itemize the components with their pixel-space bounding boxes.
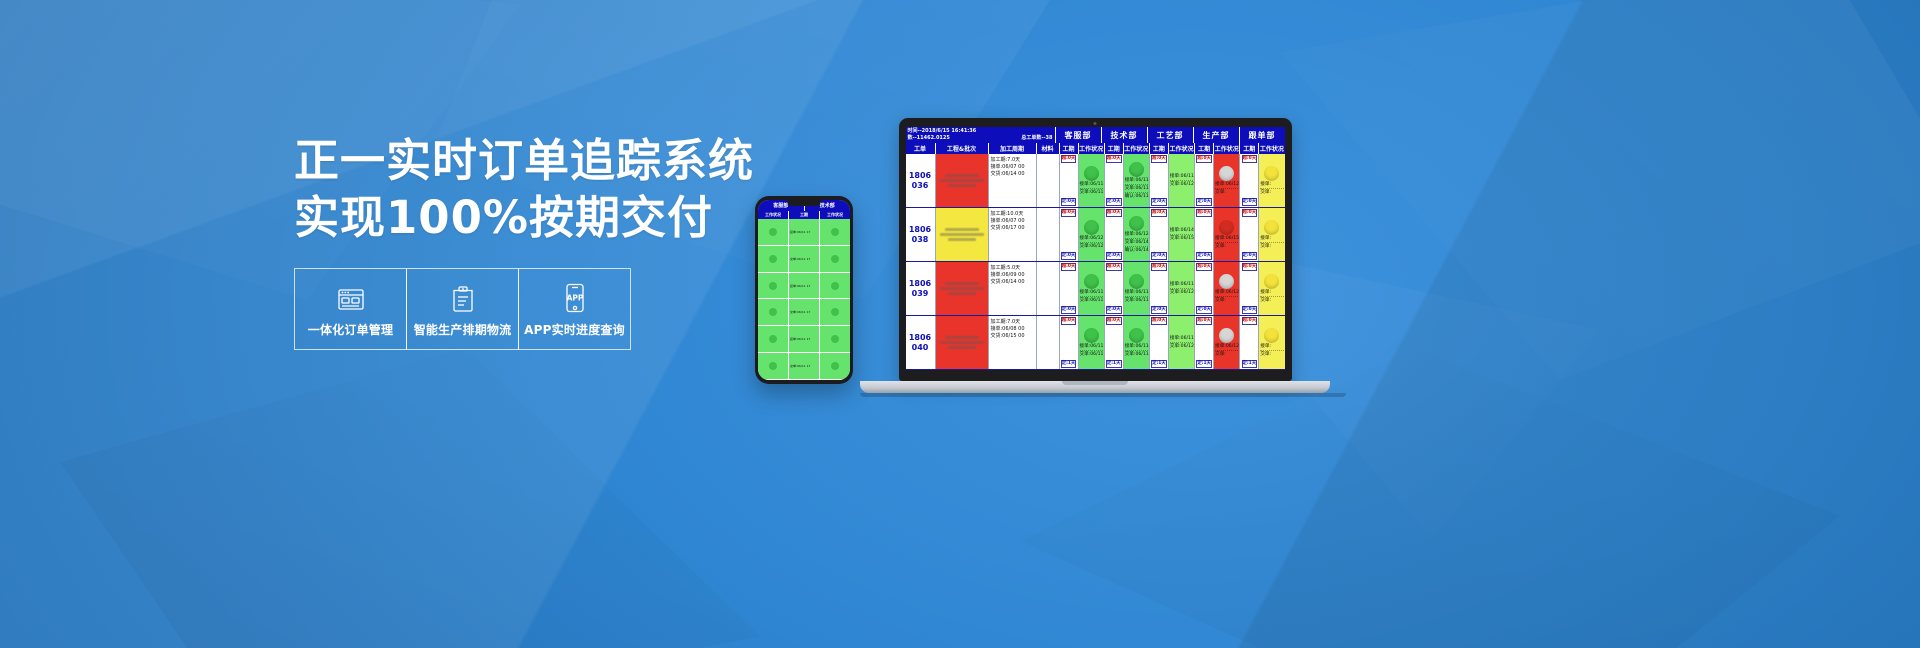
background-facet (60, 348, 760, 648)
planned-days-badge: 定:0天 (1151, 198, 1167, 206)
phone-status-cell[interactable] (758, 219, 788, 246)
cycle-line-2: 接单:06/07 00 (991, 218, 1025, 225)
feature-item-order-management[interactable]: 一体化订单管理 (294, 268, 407, 350)
banner-copy: 正一实时订单追踪系统 实现100%按期交付 一 (294, 132, 714, 350)
phone-screen: 客服部 技术部 工作状况 工期 工作状况 接单:06/11 17 (758, 200, 850, 380)
phone-status-column[interactable] (758, 219, 789, 380)
col-duration-prod: 工期 (1195, 143, 1214, 154)
material-cell (1037, 316, 1060, 369)
duration-cell: 超:0天定:0天 (1150, 154, 1169, 207)
over-days-badge: 超:0天 (1106, 317, 1122, 325)
status-date-line-3: 确认:06/11 17 (1125, 194, 1148, 200)
phone-date-cell[interactable]: 接单:06/11 17 (789, 326, 819, 353)
phone-date-text: 接单:06/11 17 (789, 337, 819, 341)
redacted-text (940, 341, 984, 344)
col-work-order: 工单 (906, 143, 936, 154)
planned-days-badge: 定:0天 (1151, 252, 1167, 260)
duration-cell: 超:0天定:0天 (1060, 208, 1079, 261)
planned-days-badge: 定:0天 (1061, 198, 1077, 206)
work-order-cell: 1806036 (906, 154, 936, 207)
redacted-text (945, 174, 979, 177)
duration-cell: 超:0天定:0天 (1105, 154, 1124, 207)
col-material: 材料 (1037, 143, 1060, 154)
status-date-line-1: 接单:06/12 09 (1215, 290, 1238, 297)
planned-days-badge: 定:0天 (1242, 306, 1258, 314)
project-batch-cell (936, 208, 989, 261)
laptop-mockup: 时间--2018/6/15 16:41:36 数--11462.0125 总工单… (860, 118, 1330, 397)
work-order-prefix: 1806 (909, 171, 931, 181)
planned-days-badge: 定:0天 (1061, 252, 1077, 260)
redacted-text (940, 287, 984, 290)
material-cell (1037, 154, 1060, 207)
status-cell[interactable]: 接单:06/12 20交单:06/12 20 (1079, 208, 1105, 261)
over-days-badge: 超:0天 (1106, 209, 1122, 217)
status-date-line-2: 交单: (1215, 298, 1238, 304)
planned-days-badge: 定:0天 (1242, 198, 1258, 206)
dept-header-process: 工艺部 (1148, 127, 1194, 143)
duration-cell: 超:0天定:0天 (1150, 208, 1169, 261)
headline-line-2: 实现100%按期交付 (294, 189, 714, 246)
clipboard-schedule-icon (449, 281, 477, 313)
feature-list: 一体化订单管理 智能生产排期物流 (294, 268, 714, 350)
planned-days-badge: 定:1天 (1242, 360, 1258, 368)
status-date-line-2: 交单: (1215, 190, 1238, 196)
status-date-line-2: 交单:06/11 17 (1125, 298, 1148, 304)
cycle-cell: 加工期:7.0天接单:06/07 00交货:06/14 00 (989, 154, 1037, 207)
planned-days-badge: 定:0天 (1196, 252, 1212, 260)
dashboard-count: 数--11462.0125 (908, 135, 950, 142)
status-cell[interactable]: 接单:06/12 20交单:06/14 08确认:06/14 08 (1124, 208, 1150, 261)
dept-header-customer-service: 客服部 (1056, 127, 1102, 143)
work-order-suffix: 040 (912, 343, 929, 353)
status-cell[interactable]: 接单:06/15 16交单: (1214, 208, 1240, 261)
dashboard-time: 时间--2018/6/15 16:41:36 (908, 128, 1053, 135)
over-days-badge: 超:0天 (1061, 209, 1077, 217)
phone-status-cell[interactable] (758, 353, 788, 380)
phone-subheader-cell: 工期 (789, 211, 820, 219)
phone-status-cell[interactable] (758, 246, 788, 273)
dashboard-meta: 时间--2018/6/15 16:41:36 数--11462.0125 总工单… (906, 127, 1056, 143)
redacted-text (945, 336, 979, 339)
status-cell[interactable]: 接单:交单: (1259, 316, 1284, 369)
webcam-icon (1094, 122, 1097, 125)
status-dot (831, 282, 839, 290)
status-cell[interactable]: 接单:06/12 09交单: (1214, 316, 1240, 369)
cycle-line-1: 加工期:7.0天 (991, 157, 1021, 164)
status-date-line-2: 交单:06/12 09 (1170, 182, 1193, 188)
dashboard-subheader: 工单 工程&批次 加工周期 材料 工期 工作状况 工期 工作状况 工期 工作状况… (906, 143, 1285, 154)
status-indicator-dot (1129, 328, 1144, 343)
svg-text:APP: APP (566, 293, 583, 302)
phone-status-cell[interactable] (820, 246, 850, 273)
duration-cell: 超:0天定:0天 (1060, 262, 1079, 315)
planned-days-badge: 定:0天 (1106, 198, 1122, 206)
cycle-line-3: 交货:06/14 00 (991, 279, 1025, 286)
phone-date-text: 交单:06/11 17 (789, 257, 819, 261)
laptop-screen: 时间--2018/6/15 16:41:36 数--11462.0125 总工单… (906, 127, 1285, 370)
cycle-line-3: 交货:06/17 00 (991, 225, 1025, 232)
status-date-line-1: 接单:06/11 17 (1125, 178, 1148, 185)
laptop-shadow (860, 393, 1346, 397)
status-indicator-dot (1264, 220, 1279, 235)
work-order-cell: 1806039 (906, 262, 936, 315)
over-days-badge: 超:0天 (1151, 209, 1167, 217)
status-cell[interactable]: 接单:06/11 17交单:06/12 09 (1169, 154, 1195, 207)
status-indicator-dot (1129, 274, 1144, 289)
status-date-line-2: 交单:06/15 16 (1170, 236, 1193, 242)
planned-days-badge: 定:0天 (1242, 252, 1258, 260)
status-date-line-1: 接单:06/11 17 (1125, 290, 1148, 297)
status-indicator-dot (1219, 274, 1234, 289)
col-duration-merch: 工期 (1240, 143, 1259, 154)
cycle-cell: 加工期:7.0天接单:06/08 00交货:06/15 00 (989, 316, 1037, 369)
col-duration-tech: 工期 (1105, 143, 1124, 154)
redacted-text (948, 292, 976, 295)
smartphone-mockup: 客服部 技术部 工作状况 工期 工作状况 接单:06/11 17 (755, 196, 853, 384)
project-batch-cell (936, 154, 989, 207)
duration-cell: 超:0天定:0天 (1195, 208, 1214, 261)
duration-cell: 超:0天定:0天 (1150, 262, 1169, 315)
status-cell[interactable]: 接单:06/12 09交单: (1214, 154, 1240, 207)
status-dot (769, 308, 777, 316)
redacted-text (948, 238, 976, 241)
status-date-line-2: 交单: (1260, 352, 1283, 358)
phone-date-text: 交单:06/11 17 (789, 310, 819, 314)
col-status-merch: 工作状况 (1259, 143, 1284, 154)
status-cell[interactable]: 接单:06/11 17交单:06/11 17 (1124, 316, 1150, 369)
phone-subheader-cell: 工作状况 (758, 211, 789, 219)
table-row[interactable]: 1806036加工期:7.0天接单:06/07 00交货:06/14 00超:0… (906, 154, 1285, 208)
status-cell[interactable]: 接单:06/11 17交单:06/11 17 (1124, 262, 1150, 315)
over-days-badge: 超:0天 (1061, 317, 1077, 325)
col-status-tech: 工作状况 (1124, 143, 1150, 154)
over-days-badge: 超:0天 (1196, 317, 1212, 325)
status-indicator-dot (1219, 328, 1234, 343)
phone-date-column[interactable]: 接单:06/11 17 交单:06/11 17 接单:06/11 17 交单:0… (789, 219, 820, 380)
dashboard-rows: 1806036加工期:7.0天接单:06/07 00交货:06/14 00超:0… (906, 154, 1285, 370)
planned-days-badge: 定:0天 (1106, 252, 1122, 260)
col-status-prod: 工作状况 (1214, 143, 1240, 154)
phone-status-column-2[interactable] (820, 219, 850, 380)
over-days-badge: 超:0天 (1242, 263, 1258, 271)
status-indicator-dot (1084, 328, 1099, 343)
planned-days-badge: 定:0天 (1196, 306, 1212, 314)
dept-header-production: 生产部 (1194, 127, 1240, 143)
planned-days-badge: 定:0天 (1061, 306, 1077, 314)
status-date-line-1: 接单: (1260, 236, 1283, 243)
status-date-line-2: 交单:06/11 17 (1080, 352, 1103, 358)
cycle-cell: 加工期:10.0天接单:06/07 00交货:06/17 00 (989, 208, 1037, 261)
status-date-line-2: 交单: (1260, 244, 1283, 250)
table-row[interactable]: 1806039加工期:5.0天接单:06/09 00交货:06/14 00超:0… (906, 262, 1285, 316)
col-project-batch: 工程&批次 (936, 143, 989, 154)
work-order-prefix: 1806 (909, 279, 931, 289)
over-days-badge: 超:0天 (1196, 263, 1212, 271)
status-indicator-dot (1084, 166, 1099, 181)
redacted-text (940, 179, 984, 182)
planned-days-badge: 定:0天 (1196, 198, 1212, 206)
status-date-line-1: 接单:06/11 17 (1125, 344, 1148, 351)
status-dot (769, 255, 777, 263)
over-days-badge: 超:0天 (1151, 263, 1167, 271)
status-indicator-dot (1129, 162, 1144, 177)
redacted-text (948, 346, 976, 349)
phone-date-cell[interactable]: 交单:06/11 17 (789, 353, 819, 380)
material-cell (1037, 262, 1060, 315)
phone-status-cell[interactable] (820, 299, 850, 326)
redacted-text (945, 228, 979, 231)
cycle-cell: 加工期:5.0天接单:06/09 00交货:06/14 00 (989, 262, 1037, 315)
background-facet (1280, 0, 1920, 380)
status-indicator-dot (1264, 274, 1279, 289)
status-date-line-2: 交单:06/11 17 (1125, 352, 1148, 358)
headline-line-1: 正一实时订单追踪系统 (294, 134, 754, 187)
redacted-text (948, 184, 976, 187)
duration-cell: 超:0天定:1天 (1240, 316, 1259, 369)
status-cell[interactable]: 接单:06/11 17交单:06/12 09 (1169, 262, 1195, 315)
status-date-line-1: 接单: (1260, 344, 1283, 351)
status-date-line-1: 接单:06/11 17 (1170, 282, 1193, 289)
status-date-line-3: 确认:06/14 08 (1125, 248, 1148, 254)
work-order-prefix: 1806 (909, 333, 931, 343)
status-cell[interactable]: 接单:06/14 08交单:06/15 16 (1169, 208, 1195, 261)
table-row[interactable]: 1806040加工期:7.0天接单:06/08 00交货:06/15 00超:0… (906, 316, 1285, 370)
status-cell[interactable]: 接单:06/11 17交单:06/11 17确认:06/11 17 (1124, 154, 1150, 207)
over-days-badge: 超:0天 (1151, 155, 1167, 163)
phone-status-cell[interactable] (758, 273, 788, 300)
status-indicator-dot (1084, 220, 1099, 235)
status-indicator-dot (1219, 220, 1234, 235)
status-date-line-2: 交单:06/11 17 (1080, 190, 1103, 196)
status-dot (831, 228, 839, 236)
status-dot (769, 362, 777, 370)
status-date-line-1: 接单:06/11 17 (1170, 336, 1193, 343)
status-cell[interactable]: 接单:06/11 17交单:06/11 17 (1079, 262, 1105, 315)
laptop-base (860, 381, 1330, 393)
over-days-badge: 超:0天 (1151, 317, 1167, 325)
over-days-badge: 超:0天 (1242, 317, 1258, 325)
phone-table-body: 接单:06/11 17 交单:06/11 17 接单:06/11 17 交单:0… (758, 219, 850, 380)
status-cell[interactable]: 接单:06/11 17交单:06/12 09 (1169, 316, 1195, 369)
status-date-line-1: 接单:06/12 20 (1125, 232, 1148, 239)
over-days-badge: 超:0天 (1196, 209, 1212, 217)
status-cell[interactable]: 接单:06/11 17交单:06/11 17 (1079, 154, 1105, 207)
table-row[interactable]: 1806038加工期:10.0天接单:06/07 00交货:06/17 00超:… (906, 208, 1285, 262)
duration-cell: 超:0天定:0天 (1105, 262, 1124, 315)
status-indicator-dot (1084, 274, 1099, 289)
feature-label: 智能生产排期物流 (414, 321, 512, 338)
phone-date-text: 交单:06/11 17 (789, 364, 819, 368)
status-date-line-2: 交单: (1260, 190, 1283, 196)
phone-status-cell[interactable] (820, 219, 850, 246)
duration-cell: 超:0天定:0天 (1195, 262, 1214, 315)
phone-subheader: 工作状况 工期 工作状况 (758, 211, 850, 219)
phone-date-cell[interactable]: 接单:06/11 17 (789, 219, 819, 246)
planned-days-badge: 定:1天 (1196, 360, 1212, 368)
planned-days-badge: 定:1天 (1151, 360, 1167, 368)
work-order-suffix: 039 (912, 289, 929, 299)
planned-days-badge: 定:0天 (1106, 306, 1122, 314)
duration-cell: 超:0天定:0天 (1240, 208, 1259, 261)
planned-days-badge: 定:1天 (1106, 360, 1122, 368)
status-date-line-2: 交单:06/11 17 (1125, 186, 1148, 193)
status-date-line-2: 交单:06/12 09 (1170, 344, 1193, 350)
status-dot (831, 308, 839, 316)
status-date-line-1: 接单:06/12 09 (1215, 344, 1238, 351)
status-cell[interactable]: 接单:交单: (1259, 262, 1284, 315)
status-date-line-2: 交单:06/12 09 (1170, 290, 1193, 296)
phone-date-text: 接单:06/11 17 (789, 230, 819, 234)
planned-days-badge: 定:0天 (1151, 306, 1167, 314)
status-date-line-1: 接单:06/11 17 (1080, 290, 1103, 297)
order-management-icon (336, 281, 366, 313)
duration-cell: 超:0天定:1天 (1150, 316, 1169, 369)
phone-status-cell[interactable] (758, 326, 788, 353)
feature-item-production-schedule[interactable]: 智能生产排期物流 (406, 268, 519, 350)
duration-cell: 超:0天定:1天 (1195, 316, 1214, 369)
status-cell[interactable]: 接单:交单: (1259, 154, 1284, 207)
status-indicator-dot (1264, 166, 1279, 181)
duration-cell: 超:0天定:0天 (1060, 154, 1079, 207)
status-date-line-1: 接单:06/15 16 (1215, 236, 1238, 243)
status-date-line-1: 接单:06/14 08 (1170, 228, 1193, 235)
project-batch-cell (936, 316, 989, 369)
col-status-process: 工作状况 (1169, 143, 1195, 154)
planned-days-badge: 定:1天 (1061, 360, 1077, 368)
phone-notch (787, 200, 821, 206)
status-indicator-dot (1219, 166, 1234, 181)
col-duration-process: 工期 (1150, 143, 1169, 154)
status-date-line-2: 交单: (1215, 352, 1238, 358)
status-date-line-2: 交单:06/14 08 (1125, 240, 1148, 247)
cycle-line-2: 接单:06/08 00 (991, 326, 1025, 333)
status-date-line-1: 接单:06/11 17 (1080, 344, 1103, 351)
dashboard-total: 总工单数--38 (1021, 135, 1052, 142)
status-indicator-dot (1129, 216, 1144, 231)
duration-cell: 超:0天定:0天 (1240, 262, 1259, 315)
status-date-line-1: 接单: (1260, 290, 1283, 297)
over-days-badge: 超:0天 (1061, 263, 1077, 271)
laptop-lid: 时间--2018/6/15 16:41:36 数--11462.0125 总工单… (899, 118, 1292, 381)
phone-date-cell[interactable]: 接单:06/11 17 (789, 273, 819, 300)
project-batch-cell (936, 262, 989, 315)
phone-date-cell[interactable]: 交单:06/11 17 (789, 246, 819, 273)
status-dot (769, 335, 777, 343)
phone-status-cell[interactable] (820, 353, 850, 380)
duration-cell: 超:0天定:1天 (1060, 316, 1079, 369)
work-order-cell: 1806040 (906, 316, 936, 369)
status-date-line-1: 接单:06/12 20 (1080, 236, 1103, 243)
headline: 正一实时订单追踪系统 实现100%按期交付 (294, 132, 714, 246)
duration-cell: 超:0天定:0天 (1195, 154, 1214, 207)
over-days-badge: 超:0天 (1242, 155, 1258, 163)
status-date-line-2: 交单:06/12 20 (1080, 244, 1103, 250)
phone-status-cell[interactable] (820, 273, 850, 300)
phone-date-text: 接单:06/11 17 (789, 284, 819, 288)
status-dot (769, 228, 777, 236)
cycle-line-2: 接单:06/07 00 (991, 164, 1025, 171)
feature-label: APP实时进度查询 (524, 321, 625, 338)
cycle-line-3: 交货:06/15 00 (991, 333, 1025, 340)
col-cycle: 加工周期 (989, 143, 1037, 154)
cycle-line-3: 交货:06/14 00 (991, 171, 1025, 178)
duration-cell: 超:0天定:0天 (1105, 208, 1124, 261)
status-date-line-1: 接单:06/11 17 (1170, 174, 1193, 181)
material-cell (1037, 208, 1060, 261)
status-date-line-1: 接单:06/11 17 (1080, 182, 1103, 189)
work-order-prefix: 1806 (909, 225, 931, 235)
over-days-badge: 超:0天 (1106, 155, 1122, 163)
cycle-line-2: 接单:06/09 00 (991, 272, 1025, 279)
over-days-badge: 超:0天 (1061, 155, 1077, 163)
work-order-suffix: 038 (912, 235, 929, 245)
mobile-app-icon: APP (564, 281, 586, 313)
redacted-text (940, 233, 984, 236)
cycle-line-1: 加工期:10.0天 (991, 211, 1024, 218)
feature-label: 一体化订单管理 (308, 321, 393, 338)
status-cell[interactable]: 接单:06/11 17交单:06/11 17 (1079, 316, 1105, 369)
over-days-badge: 超:0天 (1196, 155, 1212, 163)
over-days-badge: 超:0天 (1106, 263, 1122, 271)
status-date-line-2: 交单: (1215, 244, 1238, 250)
work-order-suffix: 036 (912, 181, 929, 191)
duration-cell: 超:0天定:1天 (1105, 316, 1124, 369)
status-dot (831, 362, 839, 370)
dept-header-technology: 技术部 (1102, 127, 1148, 143)
cycle-line-1: 加工期:5.0天 (991, 265, 1021, 272)
feature-item-app-query[interactable]: APP APP实时进度查询 (518, 268, 631, 350)
phone-subheader-cell: 工作状况 (820, 211, 850, 219)
status-cell[interactable]: 接单:交单: (1259, 208, 1284, 261)
status-dot (831, 335, 839, 343)
status-indicator-dot (1264, 328, 1279, 343)
col-status-cs: 工作状况 (1079, 143, 1105, 154)
phone-status-cell[interactable] (758, 299, 788, 326)
over-days-badge: 超:0天 (1242, 209, 1258, 217)
dashboard-header: 时间--2018/6/15 16:41:36 数--11462.0125 总工单… (906, 127, 1285, 143)
phone-status-cell[interactable] (820, 326, 850, 353)
status-dot (831, 255, 839, 263)
duration-cell: 超:0天定:0天 (1240, 154, 1259, 207)
status-date-line-2: 交单: (1260, 298, 1283, 304)
cycle-line-1: 加工期:7.0天 (991, 319, 1021, 326)
promo-banner: 正一实时订单追踪系统 实现100%按期交付 一 (0, 0, 1920, 648)
status-date-line-1: 接单: (1260, 182, 1283, 189)
phone-date-cell[interactable]: 交单:06/11 17 (789, 299, 819, 326)
dept-header-merchandising: 跟单部 (1240, 127, 1285, 143)
status-date-line-1: 接单:06/12 09 (1215, 182, 1238, 189)
redacted-text (945, 282, 979, 285)
work-order-cell: 1806038 (906, 208, 936, 261)
status-dot (769, 282, 777, 290)
col-duration-cs: 工期 (1060, 143, 1079, 154)
status-cell[interactable]: 接单:06/12 09交单: (1214, 262, 1240, 315)
status-date-line-2: 交单:06/11 17 (1080, 298, 1103, 304)
